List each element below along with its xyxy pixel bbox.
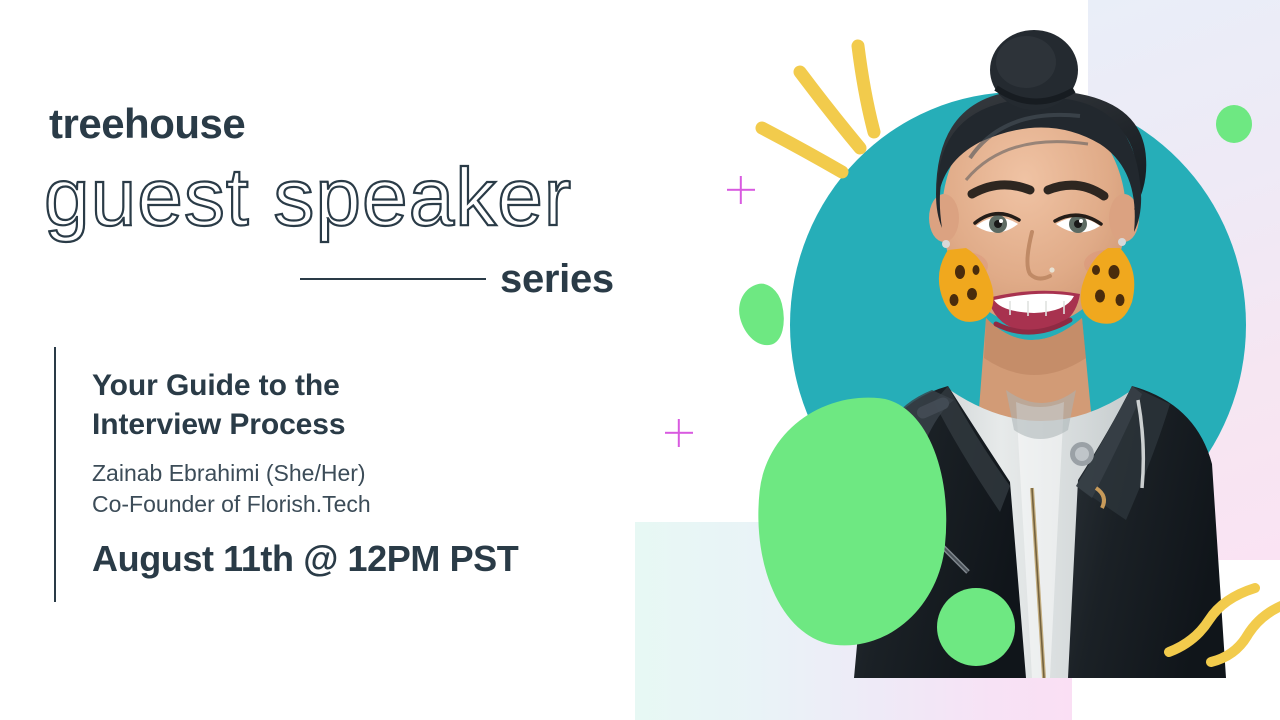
brand-wordmark: treehouse: [49, 103, 245, 145]
vertical-accent-rule: [54, 347, 56, 602]
series-label: series: [500, 259, 614, 299]
magenta-plus-icon-middle: [665, 419, 693, 447]
talk-title: Your Guide to the Interview Process: [92, 366, 432, 444]
speaker-name: Zainab Ebrahimi (She/Her): [92, 458, 632, 489]
yellow-wave-strokes: [1155, 578, 1280, 678]
green-dot-bottom: [937, 588, 1015, 666]
headline-outline-text: guest speaker: [44, 155, 572, 241]
series-row: series: [300, 254, 630, 304]
event-datetime: August 11th @ 12PM PST: [92, 539, 632, 579]
green-pill-blob: [733, 280, 791, 351]
session-info-block: Your Guide to the Interview Process Zain…: [92, 366, 632, 579]
yellow-sparkle-strokes: [740, 30, 930, 210]
speaker-role: Co-Founder of Florish.Tech: [92, 489, 632, 520]
series-divider-rule: [300, 278, 486, 280]
promo-slide: treehouse guest speaker series Your Guid…: [0, 0, 1280, 720]
